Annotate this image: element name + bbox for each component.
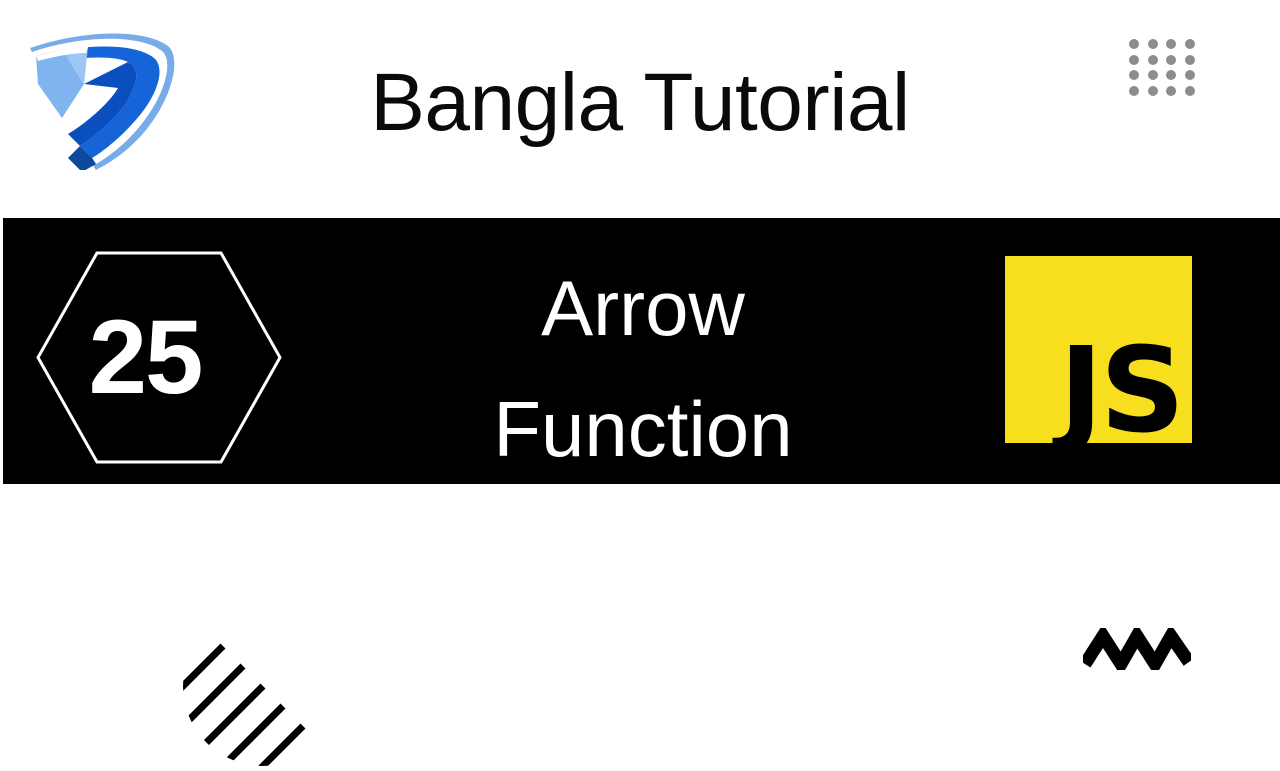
page-title: Bangla Tutorial (0, 62, 1280, 144)
grid-dot (1166, 86, 1176, 96)
lesson-title-line-2: Function (363, 369, 923, 490)
grid-dot (1166, 39, 1176, 49)
apps-grid-icon[interactable] (1129, 39, 1203, 101)
grid-dot (1185, 39, 1195, 49)
grid-dot (1129, 86, 1139, 96)
striped-circle-decoration (183, 606, 343, 766)
episode-number: 25 (35, 250, 283, 465)
zigzag-decoration (1083, 628, 1191, 670)
grid-dot (1166, 70, 1176, 80)
grid-dot (1185, 55, 1195, 65)
grid-dot (1148, 55, 1158, 65)
grid-dot (1148, 70, 1158, 80)
title-banner: 25 Arrow Function JS (3, 218, 1280, 484)
lesson-title: Arrow Function (363, 248, 923, 490)
grid-dot (1129, 39, 1139, 49)
grid-dot (1185, 70, 1195, 80)
grid-dot (1185, 86, 1195, 96)
grid-dot (1129, 55, 1139, 65)
javascript-logo-label: JS (1059, 331, 1182, 449)
grid-dot (1148, 86, 1158, 96)
lesson-title-line-1: Arrow (363, 248, 923, 369)
grid-dot (1129, 70, 1139, 80)
grid-dot (1148, 39, 1158, 49)
episode-badge: 25 (35, 250, 283, 465)
grid-dot (1166, 55, 1176, 65)
javascript-logo: JS (1005, 256, 1192, 443)
